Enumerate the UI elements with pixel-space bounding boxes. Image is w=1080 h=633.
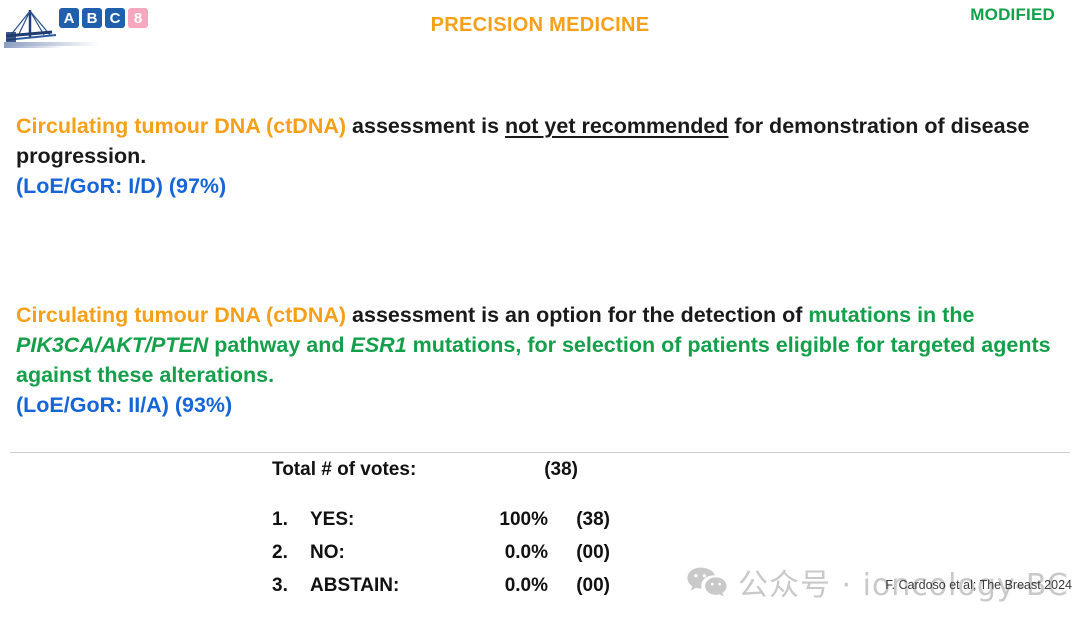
page-title: PRECISION MEDICINE <box>0 14 1080 37</box>
vote-row-number: 3. <box>272 575 310 597</box>
vote-row-count: (38) <box>548 509 610 531</box>
vote-total-label: Total # of votes: <box>272 459 522 481</box>
vote-total-count: (38) <box>522 459 578 481</box>
statement-part-green-lead: mutations in the <box>808 303 974 327</box>
loe-gor-level: (LoE/GoR: I/D) (97%) <box>16 171 1056 201</box>
statement-text: Circulating tumour DNA (ctDNA) assessmen… <box>16 114 1030 168</box>
vote-row-percent: 100% <box>472 509 548 531</box>
statement-part-body: assessment is <box>346 114 505 138</box>
statement-part-emphasis: not yet recommended <box>505 114 728 138</box>
section-divider <box>10 452 1070 453</box>
gene-name-esr1: ESR1 <box>351 333 407 357</box>
vote-bar-track <box>632 508 922 531</box>
statement-part-green-mid: pathway and <box>208 333 350 357</box>
vote-row-number: 2. <box>272 542 310 564</box>
vote-row-label: ABSTAIN: <box>310 575 472 597</box>
vote-row-count: (00) <box>548 575 610 597</box>
vote-row-number: 1. <box>272 509 310 531</box>
vote-row-label: NO: <box>310 542 472 564</box>
vote-total-row: Total # of votes: (38) <box>272 459 922 481</box>
vote-results-table: Total # of votes: (38) 1. YES: 100% (38)… <box>272 459 922 602</box>
table-row: 3. ABSTAIN: 0.0% (00) <box>272 569 922 602</box>
statement-ctdna-mutations: Circulating tumour DNA (ctDNA) assessmen… <box>16 300 1056 420</box>
statement-part-body: assessment is an option for the detectio… <box>346 303 808 327</box>
table-row: 1. YES: 100% (38) <box>272 503 922 536</box>
statement-text: Circulating tumour DNA (ctDNA) assessmen… <box>16 303 1051 387</box>
vote-row-count: (00) <box>548 542 610 564</box>
gene-name-pik3ca-akt-pten: PIK3CA/AKT/PTEN <box>16 333 208 357</box>
vote-row-label: YES: <box>310 509 472 531</box>
statement-ctdna-progression: Circulating tumour DNA (ctDNA) assessmen… <box>16 111 1056 201</box>
slide-root: A B C 8 PRECISION MEDICINE MODIFIED Circ… <box>0 0 1080 633</box>
statement-part-highlight: Circulating tumour DNA (ctDNA) <box>16 114 346 138</box>
statement-part-highlight: Circulating tumour DNA (ctDNA) <box>16 303 346 327</box>
vote-row-percent: 0.0% <box>472 575 548 597</box>
vote-row-percent: 0.0% <box>472 542 548 564</box>
vote-bar-track <box>632 541 922 564</box>
status-badge-modified: MODIFIED <box>970 5 1055 25</box>
vote-bar-track <box>632 574 922 597</box>
table-row: 2. NO: 0.0% (00) <box>272 536 922 569</box>
loe-gor-level: (LoE/GoR: II/A) (93%) <box>16 390 1056 420</box>
source-citation: F. Cardoso et al; The Breast 2024 <box>885 578 1072 592</box>
